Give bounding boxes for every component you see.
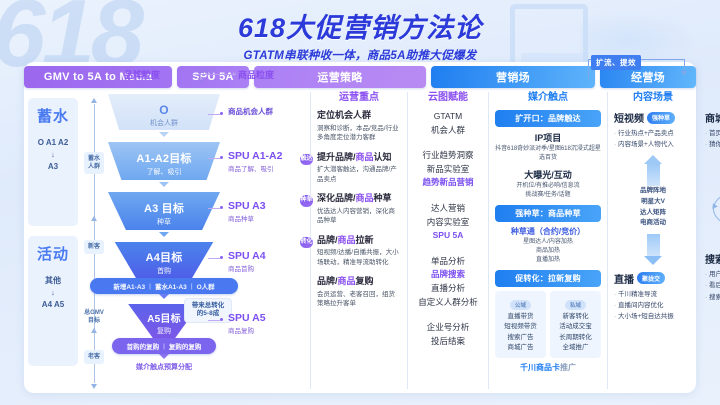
media-subbox-tag: 私域	[565, 300, 586, 310]
media-group-ip[interactable]: IP项目 抖音618奇妙派对季/星图618沉浸式超星选百货	[495, 131, 601, 163]
content-mid-labels: 品牌阵地 明星大V 达人矩阵 电商活动	[614, 186, 692, 229]
column-header: 云图赋能	[414, 88, 482, 103]
media-subbox-item: 新客转化	[552, 312, 599, 322]
list-item: 大小场+短自达共振	[614, 311, 692, 322]
column-header: 内容场景	[614, 88, 692, 103]
ops-desc: 会员运营、老客召回，组货策略拉升客单	[317, 290, 401, 309]
ops-badge-reach: 触达	[300, 154, 313, 166]
funnel-chevron-icon	[159, 182, 169, 187]
funnel-chevron-icon	[159, 294, 169, 299]
connector-line	[208, 258, 220, 259]
cycle-label: 店铺 会员运营 收藏复购	[709, 189, 720, 227]
arrow-shaft	[647, 234, 660, 256]
media-subbox-item: 搜索广告	[497, 333, 544, 343]
content-bottom-title[interactable]: 直播聚拢交	[614, 271, 692, 286]
ops-desc: 洞察和诊断，本品/竞品/行业多角度定位潜力客群	[317, 124, 401, 143]
funnel-stage-title: A3 目标	[108, 200, 220, 216]
media-subbox-public[interactable]: 公域 直播带货 短视频带货 搜索广告 商城广告	[495, 291, 546, 358]
list-item: 直播间内容优化	[614, 300, 692, 311]
content-flow-arrow-icon	[647, 155, 660, 186]
list-item: 搜索词洞察和扩展	[705, 292, 720, 303]
annotation-badge: 扩流、提效	[591, 55, 641, 70]
funnel-chevron-icon	[159, 354, 169, 359]
media-group-lines: 开机位/有推必响/信息流	[495, 182, 601, 191]
ops-desc: 扩大潜客触达，沟通品牌/产品卖点	[317, 165, 401, 184]
axis-chip-total-gmv: 总GMV目标	[84, 306, 104, 328]
media-group-seeding-pass[interactable]: 种草通（合约/竞价） 星图达人/内容加热 商品加热 直播加热	[495, 226, 601, 265]
spu-title: SPU A1-A2	[228, 150, 282, 162]
arrow-shaft	[647, 164, 660, 186]
funnel-stage-title: O	[108, 103, 220, 117]
content-scene-column: 内容场景 短视频强种草 行业热点+产品卖点 内容场景+人物代入 品牌阵地 明星大…	[608, 88, 698, 393]
shelf-scene-column: 货架场景 商城稳导购 首页频道活动运营 猜你喜欢运营 商品卡 店铺 会员运营 收…	[699, 88, 720, 393]
tab-operation-strategy[interactable]: 运营策略	[254, 66, 426, 88]
media-group-title: IP项目	[495, 131, 601, 144]
stage-subtitle: 其他 ↓ A4 A5	[28, 275, 78, 310]
list-item: 用户搜索路径拆解	[705, 269, 720, 280]
operation-focus-column: 运营重点 定位机会人群 洞察和诊断，本品/竞品/行业多角度定位潜力客群 触达 提…	[311, 88, 407, 393]
ops-title: 深化品牌/商品种草	[317, 193, 401, 205]
shelf-top-title[interactable]: 商城稳导购	[705, 110, 720, 125]
funnel-stage-a1a2[interactable]: A1-A2目标 了解、吸引	[108, 142, 220, 180]
shelf-bottom-list: 用户搜索路径拆解 看后搜激发&小蓝词配置 搜索词洞察和扩展	[705, 269, 720, 303]
ops-title: 定位机会人群	[317, 110, 401, 122]
funnel-stage-sub: 首购	[108, 266, 220, 276]
axis-arrow-up-icon	[91, 98, 97, 103]
ops-item-acquisition[interactable]: 转化 品牌/商品拉新 短视频/达播/自播共振，大小场联动，精准导流助转化	[317, 235, 401, 268]
arrow-head-up	[644, 155, 662, 164]
ops-item-awareness[interactable]: 触达 提升品牌/商品认知 扩大潜客触达，沟通品牌/产品卖点	[317, 152, 401, 185]
axis-chip-old-customer: 老客	[84, 350, 104, 364]
funnel-stage-sub: 复购	[108, 326, 220, 336]
connector-dot-icon	[220, 318, 223, 321]
granularity-arrow-label: 细化升级	[198, 66, 220, 84]
content-bottom-list: 千川精准导流 直播间内容优化 大小场+短自达共振	[614, 289, 692, 322]
ops-title: 提升品牌/商品认知	[317, 152, 401, 164]
spu-title: SPU A3	[228, 200, 266, 212]
media-subbox-private[interactable]: 私域 新客转化 活动成交宝 长周期转化 全域推广	[550, 291, 601, 358]
stage-label-column: 蓄水 O A1 A2 ↓ A3 活动 其他 ↓ A4 A5	[24, 88, 82, 393]
media-bar-seeding[interactable]: 强种草：商品种草	[495, 205, 601, 222]
media-subbox-item: 直播带货	[497, 312, 544, 322]
funnel-pill-row-new[interactable]: 新增A1-A3| 蓄水A1-A3| O人群	[90, 278, 238, 294]
media-touchpoint-column: 媒介触点 扩开口：品牌触达 IP项目 抖音618奇妙派对季/星图618沉浸式超星…	[489, 88, 607, 393]
stage-title: 活动	[28, 246, 78, 263]
axis-arrow-mid-icon	[91, 216, 97, 221]
annotation-line-left	[588, 59, 589, 79]
granularity-product-label: 商品粒度	[238, 68, 274, 81]
funnel-stage-sub: 了解、吸引	[108, 167, 220, 177]
funnel-chevron-icon	[159, 132, 169, 137]
granularity-brand-label: 品牌粒度	[124, 68, 160, 81]
funnel-chevron-icon	[159, 232, 169, 237]
cloud-block-talent[interactable]: 达人营销 内容实验室 SPU 5A	[414, 202, 482, 243]
list-item: 看后搜激发&小蓝词配置	[705, 280, 720, 291]
media-group-lines: 商品加热	[495, 247, 601, 256]
media-group-lines: 抖音618奇妙派对季/星图618沉浸式超星选百货	[495, 145, 601, 163]
cloud-block-gtatm[interactable]: GTATM 机会人群	[414, 110, 482, 137]
funnel-budget-label: 媒介触点预算分配	[108, 362, 220, 372]
media-bar-reach[interactable]: 扩开口：品牌触达	[495, 110, 601, 127]
content-top-list: 行业热点+产品卖点 内容场景+人物代入	[614, 128, 692, 150]
media-group-exposure[interactable]: 大曝光/互动 开机位/有推必响/信息流 挑战赛/任务/话题	[495, 168, 601, 200]
axis-column: 蓄水人群 新客 总GMV目标 老客	[82, 88, 108, 393]
ops-title: 品牌/商品拉新	[317, 235, 401, 247]
list-item: 猜你喜欢运营	[705, 139, 720, 150]
ops-item-repurchase[interactable]: 品牌/商品复购 会员运营、老客召回，组货策略拉升客单	[317, 276, 401, 309]
cloud-block-analysis[interactable]: 单品分析 品牌搜索 直播分析 自定义人群分析	[414, 255, 482, 309]
funnel-stage-a3[interactable]: A3 目标 种草	[108, 192, 220, 230]
spu-column: 商品粒度 商品机会人群 SPU A1-A2 商品了解、吸引 SPU A3 商品种…	[220, 88, 310, 393]
ops-desc: 优选达人内容营销，深化商品种草	[317, 207, 401, 226]
stage-title: 蓄水	[28, 108, 78, 125]
media-group-title: 种草通（合约/竞价）	[495, 226, 601, 237]
page-title: 618大促营销方法论	[0, 6, 720, 45]
stage-subtitle: O A1 A2 ↓ A3	[28, 137, 78, 172]
connector-dot-icon	[220, 206, 223, 209]
list-item: 千川精准导流	[614, 289, 692, 300]
media-group-lines: 挑战赛/任务/话题	[495, 191, 601, 200]
funnel-stage-a4[interactable]: A4目标 首购	[108, 242, 220, 280]
column-header: 运营重点	[317, 88, 401, 103]
column-header: 媒介触点	[495, 88, 601, 103]
board-content: 蓄水 O A1 A2 ↓ A3 活动 其他 ↓ A4 A5 蓄水人群 新客 总G…	[24, 88, 696, 393]
annotation-arrow-icon	[681, 71, 687, 76]
spu-sub: 商品首购	[228, 263, 266, 273]
funnel-column: 品牌粒度 细化升级 O 机会人群 A1-A2目标 了解、吸引 A3 目标 种草 …	[108, 88, 220, 393]
connector-line	[208, 208, 220, 209]
media-group-title: 大曝光/互动	[495, 168, 601, 181]
media-group-lines: 星图达人/内容加热	[495, 238, 601, 247]
cloud-block-enterprise[interactable]: 企业号分析 投后结案	[414, 321, 482, 348]
media-subbox-tag: 公域	[510, 300, 531, 310]
ops-desc: 短视频/达播/自播共振，大小场联动，精准导流助转化	[317, 248, 401, 267]
media-subbox-item: 商城广告	[497, 343, 544, 353]
spu-title: SPU A5	[228, 312, 266, 324]
media-footer[interactable]: 千川商品卡推广	[495, 362, 601, 373]
arrow-head-down	[644, 256, 662, 265]
funnel-stage-title: A4目标	[108, 249, 220, 265]
content-flow-arrow-down-icon	[647, 234, 660, 265]
media-subbox-item: 全域推广	[552, 343, 599, 353]
connector-line	[208, 114, 220, 115]
funnel-pill-row-repeat[interactable]: 首购的复购| 复购的复购	[112, 338, 216, 354]
shelf-top-list: 首页频道活动运营 猜你喜欢运营	[705, 128, 720, 151]
spu-title: 商品机会人群	[228, 106, 273, 117]
connector-line	[208, 158, 220, 159]
spu-sub: 商品了解、吸引	[228, 163, 282, 173]
ops-badge-seeding: 种草	[300, 195, 313, 207]
media-bar-conversion[interactable]: 促转化：拉新复购	[495, 270, 601, 287]
media-subbox-item: 长周期转化	[552, 333, 599, 343]
axis-chip-new-customer: 新客	[84, 240, 104, 254]
connector-line	[208, 320, 220, 321]
funnel-stage-title: A1-A2目标	[108, 150, 220, 166]
media-subbox-row: 公域 直播带货 短视频带货 搜索广告 商城广告 私域 新客转化 活动成交宝 长周…	[495, 291, 601, 358]
spu-row-a3[interactable]: SPU A3 商品种草	[228, 200, 266, 223]
ops-item-seeding[interactable]: 种草 深化品牌/商品种草 优选达人内容营销，深化商品种草	[317, 193, 401, 226]
ops-item-locate[interactable]: 定位机会人群 洞察和诊断，本品/竞品/行业多角度定位潜力客群	[317, 110, 401, 143]
stage-block-reservoir: 蓄水 O A1 A2 ↓ A3	[28, 98, 78, 226]
list-item: 首页频道活动运营	[705, 128, 720, 139]
spu-row-a4[interactable]: SPU A4 商品首购	[228, 250, 266, 273]
stage-block-activity: 活动 其他 ↓ A4 A5	[28, 236, 78, 366]
spu-sub: 商品复购	[228, 325, 266, 335]
media-subbox-item: 短视频带货	[497, 322, 544, 332]
axis-chip-reservoir-audience: 蓄水人群	[84, 152, 104, 174]
ops-title: 品牌/商品复购	[317, 276, 401, 288]
connector-dot-icon	[220, 156, 223, 159]
spu-title: SPU A4	[228, 250, 266, 262]
axis-arrow-down-icon	[91, 384, 97, 389]
list-item: 行业热点+产品卖点	[614, 128, 692, 139]
spu-row-a1a2[interactable]: SPU A1-A2 商品了解、吸引	[228, 150, 282, 173]
media-group-lines: 直播加热	[495, 256, 601, 265]
spu-row-opportunity[interactable]: 商品机会人群	[228, 106, 273, 117]
funnel-stage-sub: 种草	[108, 217, 220, 227]
list-item: 内容场景+人物代入	[614, 139, 692, 150]
spu-sub: 商品种草	[228, 213, 266, 223]
connector-dot-icon	[220, 256, 223, 259]
column-header: 货架场景	[705, 88, 720, 103]
connector-dot-icon	[220, 112, 223, 115]
cloud-enable-column: 云图赋能 GTATM 机会人群 行业趋势洞察 新品实验室 趋势新品营销 达人营销…	[408, 88, 488, 393]
content-top-title[interactable]: 短视频强种草	[614, 110, 692, 125]
ops-badge-conversion: 转化	[300, 237, 313, 249]
tab-marketing-field[interactable]: 营销场	[431, 66, 595, 88]
axis-arrow-mid-icon	[91, 328, 97, 333]
funnel-stage-sub: 机会人群	[108, 118, 220, 128]
media-subbox-item: 活动成交宝	[552, 322, 599, 332]
shelf-cycle-diagram[interactable]: 店铺 会员运营 收藏复购	[709, 189, 720, 235]
spu-row-a5[interactable]: SPU A5 商品复购	[228, 312, 266, 335]
media-footer-main: 千川商品卡	[520, 363, 560, 372]
content-top-tag: 强种草	[647, 112, 675, 124]
cloud-block-trend[interactable]: 行业趋势洞察 新品实验室 趋势新品营销	[414, 149, 482, 190]
funnel-stage-o[interactable]: O 机会人群	[108, 94, 220, 130]
media-footer-dim: 推广	[560, 363, 576, 372]
shelf-bottom-title[interactable]: 搜索准拦截	[705, 251, 720, 266]
content-bottom-tag: 聚拢交	[637, 272, 665, 284]
